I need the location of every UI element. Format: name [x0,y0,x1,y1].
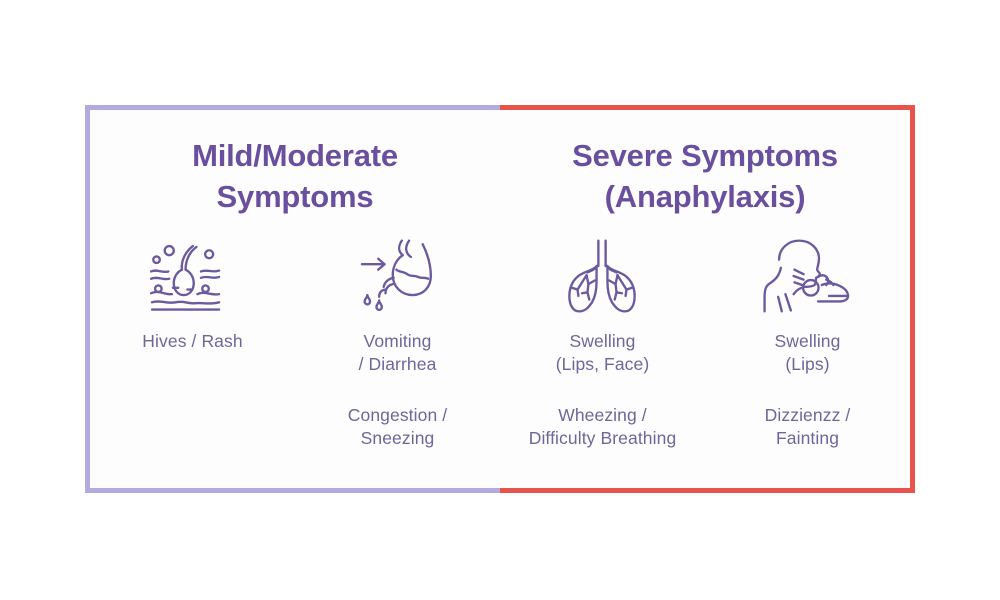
person-swollen-lips-icon [761,236,857,316]
symptom-label-swelling-lips: Swelling (Lips) [775,330,841,376]
panel-title-mild-moderate: Mild/Moderate Symptoms [192,110,398,218]
symptom-comparison-card: Mild/Moderate Symptoms [85,105,915,493]
panel-severe-anaphylaxis: Severe Symptoms (Anaphylaxis) [500,105,915,493]
panel-title-severe: Severe Symptoms (Anaphylaxis) [572,110,838,218]
lungs-icon [554,236,650,316]
symptom-label-vomiting: Vomiting / Diarrhea [359,330,437,376]
symptom-label-hives: Hives / Rash [142,330,242,353]
symptom-label-swelling-lips-face: Swelling (Lips, Face) [556,330,650,376]
skin-hair-follicle-icon [143,236,239,316]
symptom-column-vomiting: Vomiting / Diarrhea Congestion / Sneezin… [295,236,500,488]
symptom-label-dizziness: Dizzienzz / Fainting [705,404,910,450]
stomach-icon [352,236,448,316]
symptom-label-wheezing: Wheezing / Difficulty Breathing [472,404,733,450]
symptom-column-hives: Hives / Rash [90,236,295,488]
symptom-columns-mild: Hives / Rash [90,218,500,488]
infographic-stage: Mild/Moderate Symptoms [0,0,1000,600]
symptom-column-dizziness: Swelling (Lips) Dizzienzz / Fainting [705,236,910,488]
panel-mild-moderate: Mild/Moderate Symptoms [85,105,500,493]
symptom-column-lungs: Swelling (Lips, Face) Wheezing / Difficu… [500,236,705,488]
symptom-label-congestion: Congestion / Sneezing [295,404,500,450]
symptom-columns-severe: Swelling (Lips, Face) Wheezing / Difficu… [500,218,910,488]
